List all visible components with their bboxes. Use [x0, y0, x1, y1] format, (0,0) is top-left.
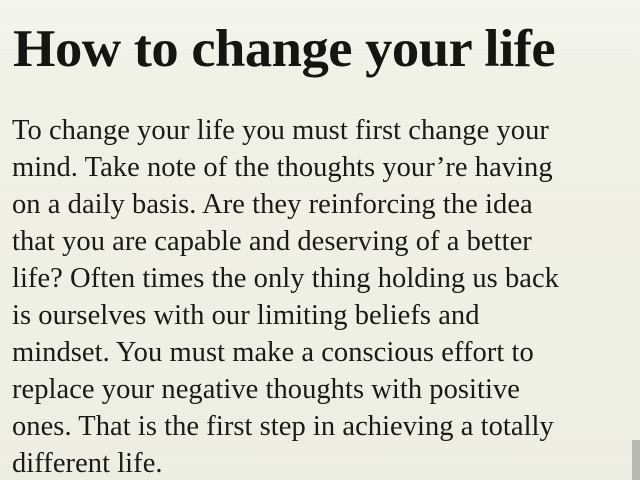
motivational-quote-poster: How to change your life To change your l… [0, 0, 640, 480]
body-line: life? Often times the only thing holding… [12, 260, 630, 297]
body-line: on a daily basis. Are they reinforcing t… [12, 186, 630, 223]
body-line: ones. That is the first step in achievin… [12, 408, 630, 445]
body-line: replace your negative thoughts with posi… [12, 371, 630, 408]
page-title: How to change your life [13, 22, 640, 76]
body-line: mind. Take note of the thoughts your’re … [12, 149, 630, 186]
body-line: mindset. You must make a conscious effor… [12, 334, 630, 371]
body-text: To change your life you must first chang… [12, 112, 630, 480]
body-line: To change your life you must first chang… [12, 112, 630, 149]
body-line: that you are capable and deserving of a … [12, 223, 630, 260]
body-line: is ourselves with our limiting beliefs a… [12, 297, 630, 334]
body-line: different life. [12, 445, 630, 480]
scan-edge-artifact [632, 440, 640, 480]
